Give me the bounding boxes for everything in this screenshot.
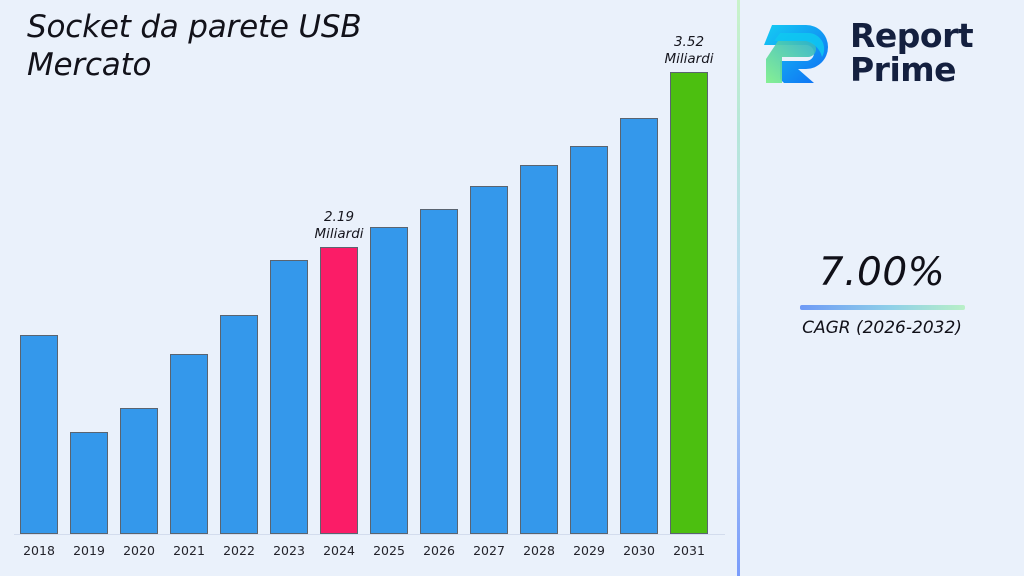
logo-wordmark: Report Prime bbox=[850, 19, 973, 87]
x-tick-label-2021: 2021 bbox=[164, 543, 214, 558]
x-tick-label-2025: 2025 bbox=[364, 543, 414, 558]
bar-slot-2028[interactable] bbox=[514, 42, 564, 534]
bar-slot-2030[interactable] bbox=[614, 42, 664, 534]
report-prime-logo: Report Prime bbox=[758, 12, 1010, 94]
bar-value-label-2031: 3.52 Miliardi bbox=[634, 34, 744, 68]
bar-2029[interactable] bbox=[570, 146, 608, 534]
bar-slot-2029[interactable] bbox=[564, 42, 614, 534]
bar-slot-2025[interactable] bbox=[364, 42, 414, 534]
bar-2025[interactable] bbox=[370, 227, 408, 534]
x-tick-label-2022: 2022 bbox=[214, 543, 264, 558]
bar-2027[interactable] bbox=[470, 186, 508, 534]
bar-2028[interactable] bbox=[520, 165, 558, 534]
bar-2024[interactable] bbox=[320, 247, 358, 534]
bar-2031[interactable] bbox=[670, 72, 708, 534]
logo-line-2: Prime bbox=[850, 50, 956, 89]
bar-2021[interactable] bbox=[170, 354, 208, 534]
bar-2019[interactable] bbox=[70, 432, 108, 534]
x-tick-label-2028: 2028 bbox=[514, 543, 564, 558]
bar-2022[interactable] bbox=[220, 315, 258, 534]
x-tick-label-2027: 2027 bbox=[464, 543, 514, 558]
x-tick-label-2031: 2031 bbox=[664, 543, 714, 558]
bar-slot-2018[interactable] bbox=[14, 42, 64, 534]
bar-slot-2019[interactable] bbox=[64, 42, 114, 534]
cagr-block: 7.00% CAGR (2026-2032) bbox=[740, 250, 1024, 339]
bar-slot-2021[interactable] bbox=[164, 42, 214, 534]
cagr-value: 7.00% bbox=[740, 250, 1024, 296]
bar-slot-2020[interactable] bbox=[114, 42, 164, 534]
bar-chart: 2018201920202021202220232.19 Miliardi202… bbox=[0, 0, 737, 576]
report-prime-r-mark-icon bbox=[758, 17, 840, 89]
bar-2023[interactable] bbox=[270, 260, 308, 534]
x-tick-label-2020: 2020 bbox=[114, 543, 164, 558]
cagr-caption: CAGR (2026-2032) bbox=[740, 317, 1024, 339]
chart-panel: Socket da parete USB Mercato 20182019202… bbox=[0, 0, 737, 576]
x-tick-label-2024: 2024 bbox=[314, 543, 364, 558]
cagr-divider bbox=[800, 305, 965, 310]
bar-slot-2024[interactable]: 2.19 Miliardi bbox=[314, 42, 364, 534]
bar-slot-2031[interactable]: 3.52 Miliardi bbox=[664, 42, 714, 534]
bar-2020[interactable] bbox=[120, 408, 158, 534]
x-tick-label-2030: 2030 bbox=[614, 543, 664, 558]
bar-2030[interactable] bbox=[620, 118, 658, 534]
bar-slot-2023[interactable] bbox=[264, 42, 314, 534]
bar-2018[interactable] bbox=[20, 335, 58, 534]
bar-slot-2022[interactable] bbox=[214, 42, 264, 534]
x-tick-label-2018: 2018 bbox=[14, 543, 64, 558]
bar-slot-2026[interactable] bbox=[414, 42, 464, 534]
bar-2026[interactable] bbox=[420, 209, 458, 534]
x-tick-label-2026: 2026 bbox=[414, 543, 464, 558]
slide-root: Socket da parete USB Mercato 20182019202… bbox=[0, 0, 1024, 576]
x-axis-line bbox=[14, 534, 725, 535]
x-tick-label-2019: 2019 bbox=[64, 543, 114, 558]
bar-slot-2027[interactable] bbox=[464, 42, 514, 534]
side-panel: Report Prime 7.00% CAGR (2026-2032) bbox=[740, 0, 1024, 576]
x-tick-label-2029: 2029 bbox=[564, 543, 614, 558]
x-tick-label-2023: 2023 bbox=[264, 543, 314, 558]
